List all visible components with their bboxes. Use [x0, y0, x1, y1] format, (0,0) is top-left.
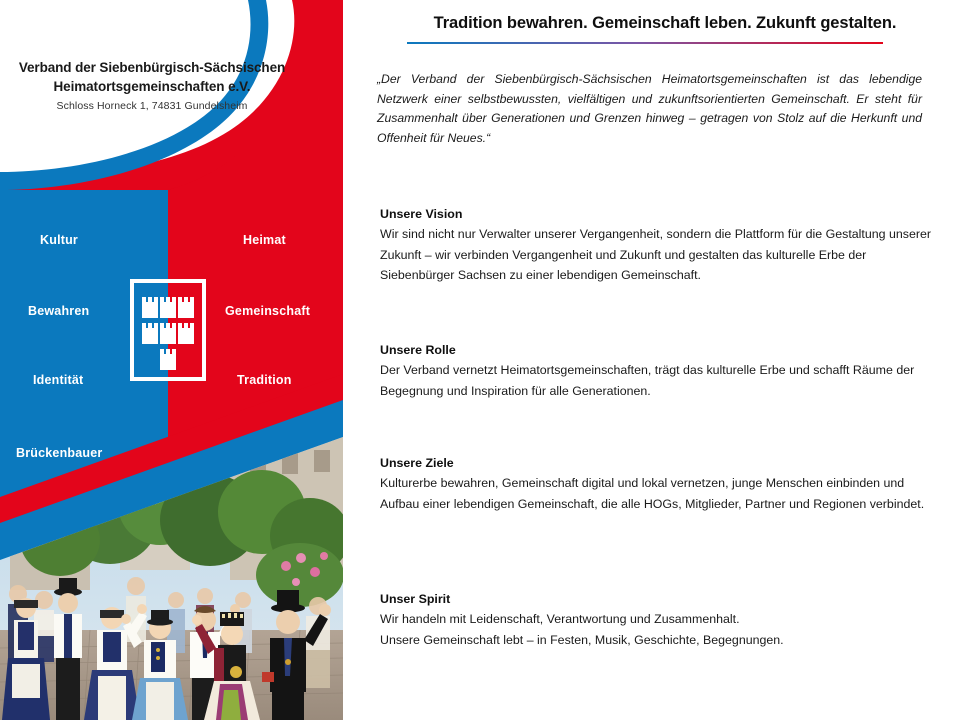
page-title: Tradition bewahren. Gemeinschaft leben. …: [395, 14, 935, 33]
section-rolle: Unsere Rolle Der Verband vernetzt Heimat…: [380, 341, 938, 401]
mission-quote: „Der Verband der Siebenbürgisch-Sächsisc…: [377, 70, 922, 148]
section-ziele-title: Unsere Ziele: [380, 454, 938, 472]
section-vision: Unsere Vision Wir sind nicht nur Verwalt…: [380, 205, 938, 286]
section-spirit-body: Wir handeln mit Leidenschaft, Verantwort…: [380, 609, 938, 650]
slide-canvas: Verband der Siebenbürgisch-Sächsischen H…: [0, 0, 960, 720]
section-ziele: Unsere Ziele Kulturerbe bewahren, Gemein…: [380, 454, 938, 514]
section-ziele-body: Kulturerbe bewahren, Gemeinschaft digita…: [380, 473, 938, 514]
content-column: Tradition bewahren. Gemeinschaft leben. …: [343, 0, 960, 720]
section-spirit-title: Unser Spirit: [380, 590, 938, 608]
brand-panel: Verband der Siebenbürgisch-Sächsischen H…: [0, 0, 343, 720]
title-gradient-rule: [407, 42, 883, 44]
section-vision-title: Unsere Vision: [380, 205, 938, 223]
section-rolle-title: Unsere Rolle: [380, 341, 938, 359]
section-spirit: Unser Spirit Wir handeln mit Leidenschaf…: [380, 590, 938, 650]
section-rolle-body: Der Verband vernetzt Heimatortsgemeinsch…: [380, 360, 938, 401]
brand-artwork: [0, 0, 343, 720]
section-vision-body: Wir sind nicht nur Verwalter unserer Ver…: [380, 224, 938, 286]
